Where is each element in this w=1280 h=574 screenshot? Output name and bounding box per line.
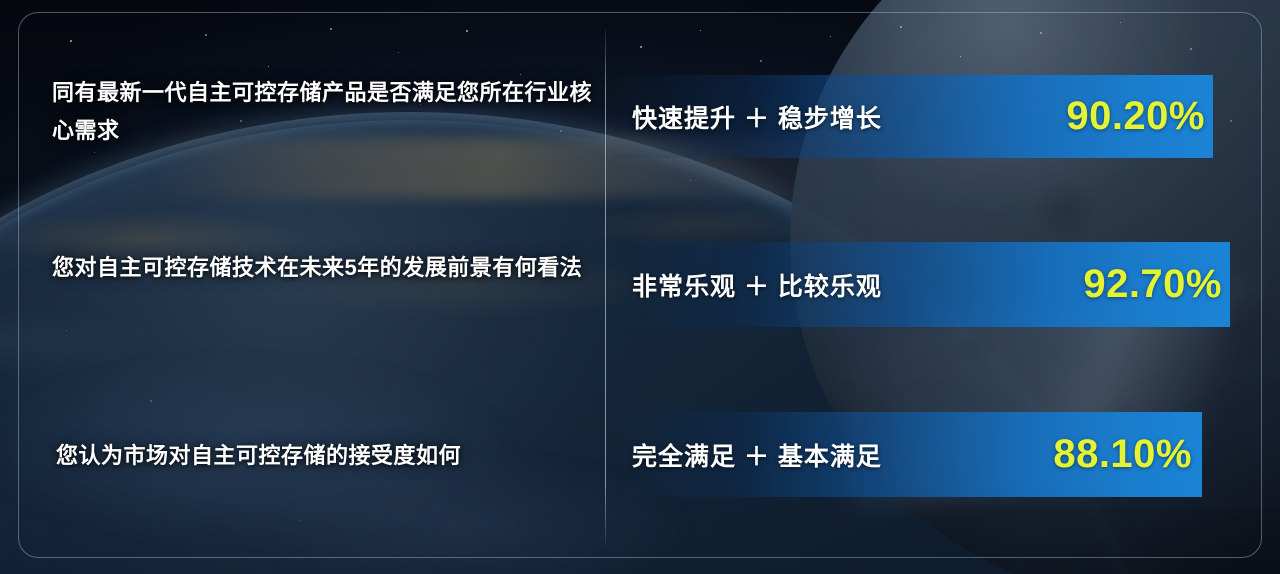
result-bar-1-value: 90.20% — [1066, 94, 1205, 139]
question-2: 您对自主可控存储技术在未来5年的发展前景有何看法 — [52, 249, 592, 287]
infographic-slide: 同有最新一代自主可控存储产品是否满足您所在行业核心需求 您对自主可控存储技术在未… — [0, 0, 1280, 574]
result-bar-3-value: 88.10% — [1053, 432, 1192, 477]
result-bar-1-label: 快速提升 ＋ 稳步增长 — [632, 99, 882, 135]
question-3: 您认为市场对自主可控存储的接受度如何 — [56, 437, 596, 475]
question-1: 同有最新一代自主可控存储产品是否满足您所在行业核心需求 — [52, 74, 592, 150]
column-divider — [605, 30, 606, 545]
result-bar-2: 非常乐观 ＋ 比较乐观 92.70% — [614, 242, 1230, 327]
result-bar-1: 快速提升 ＋ 稳步增长 90.20% — [614, 75, 1213, 158]
result-bar-2-label: 非常乐观 ＋ 比较乐观 — [632, 267, 882, 303]
result-bar-2-value: 92.70% — [1083, 262, 1222, 307]
result-bar-3: 完全满足 ＋ 基本满足 88.10% — [614, 412, 1202, 497]
slide-content: 同有最新一代自主可控存储产品是否满足您所在行业核心需求 您对自主可控存储技术在未… — [0, 0, 1280, 574]
result-bar-3-label: 完全满足 ＋ 基本满足 — [632, 437, 882, 473]
